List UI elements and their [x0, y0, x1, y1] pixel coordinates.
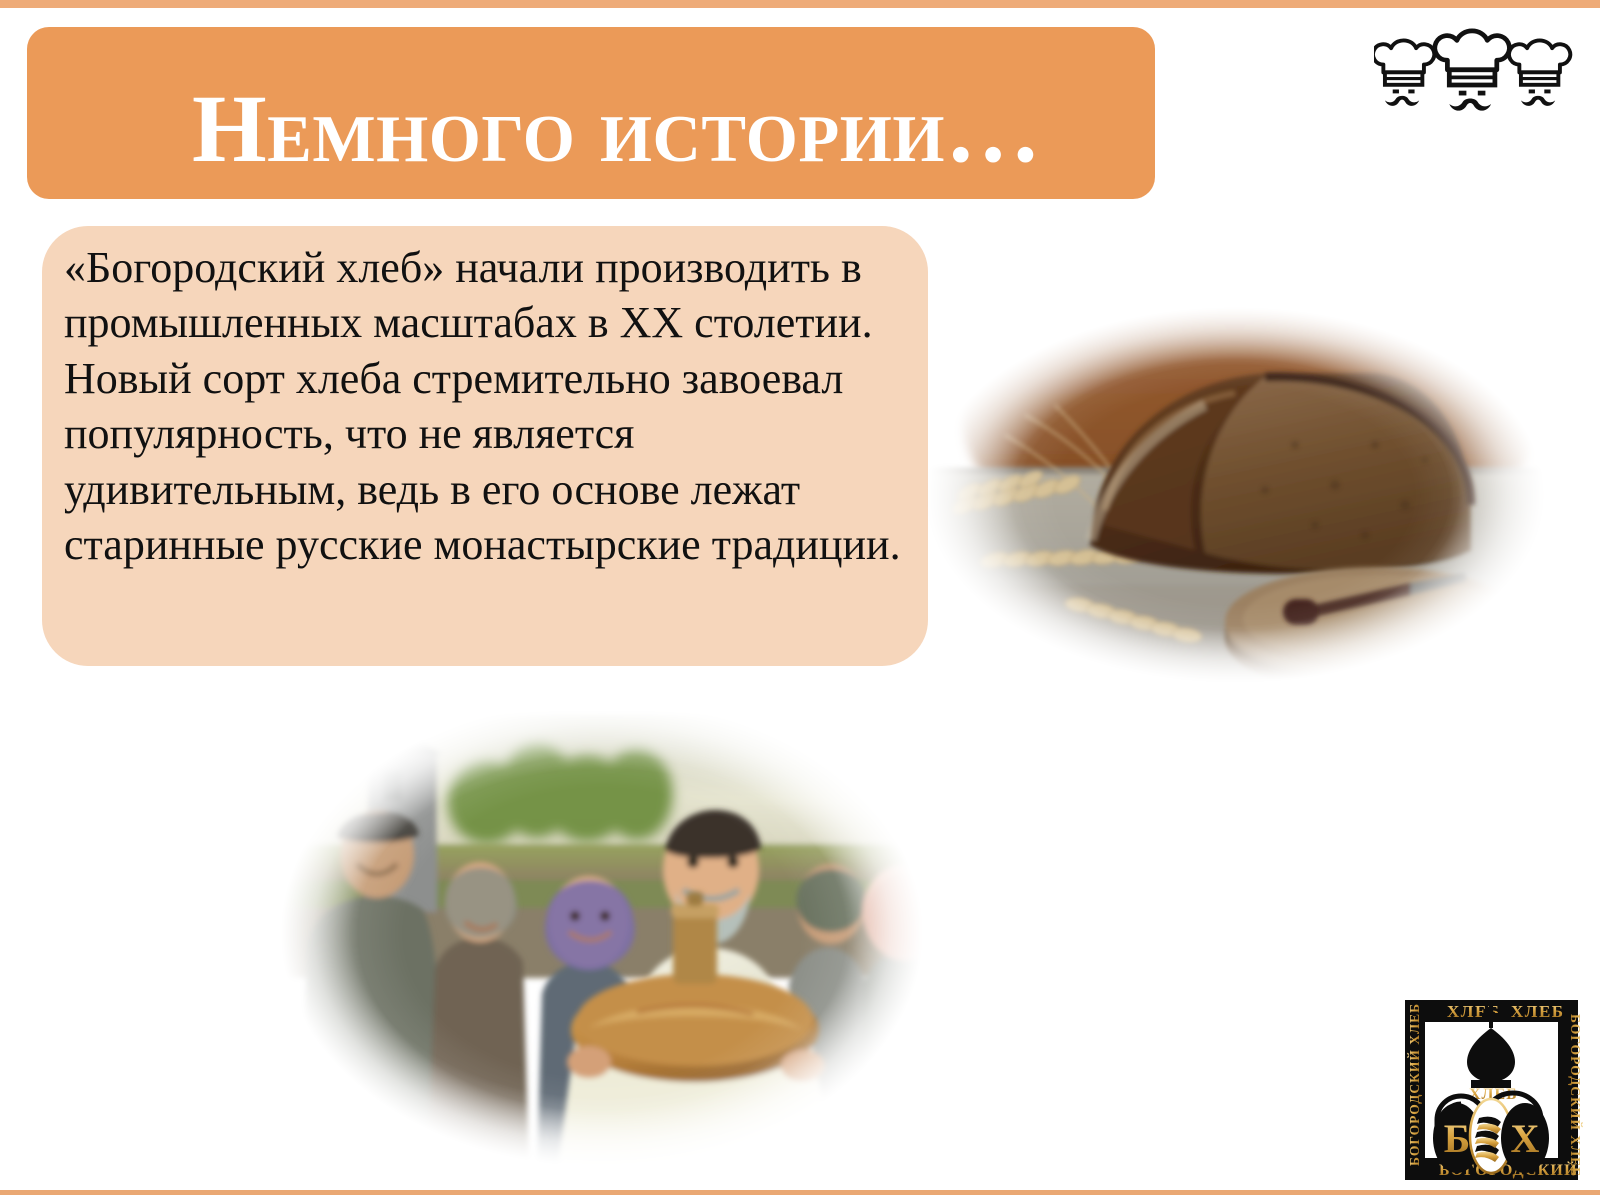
svg-text:Х: Х	[1511, 1116, 1540, 1161]
bogorodsky-hleb-logo: ХЛЕБ ХЛЕБ БОГОРОДСКИЙ БОГОРОДСКИЙ ХЛЕБ Б…	[1399, 994, 1584, 1186]
page-title: Немного истории…	[192, 79, 1152, 180]
body-paragraph: «Богородский хлеб» начали производить в …	[64, 240, 912, 573]
bottom-accent-strip	[0, 1190, 1600, 1195]
svg-text:ХЛЕБ: ХЛЕБ	[1511, 1002, 1565, 1021]
bread-and-salt-painting	[237, 694, 967, 1172]
body-text-card: «Богородский хлеб» начали производить в …	[42, 226, 928, 666]
svg-text:БОГОРОДСКИЙ ХЛЕБ: БОГОРОДСКИЙ ХЛЕБ	[1407, 1003, 1422, 1166]
svg-text:БОГОРОДСКИЙ ХЛЕБ: БОГОРОДСКИЙ ХЛЕБ	[1568, 1014, 1583, 1177]
three-chef-hats-logo	[1374, 24, 1574, 124]
top-accent-strip	[0, 0, 1600, 8]
svg-text:Б: Б	[1444, 1116, 1470, 1161]
title-banner: Немного истории…	[27, 27, 1155, 199]
dark-rye-bread-photo	[905, 295, 1565, 695]
slide-canvas: Немного истории…	[0, 0, 1600, 1200]
